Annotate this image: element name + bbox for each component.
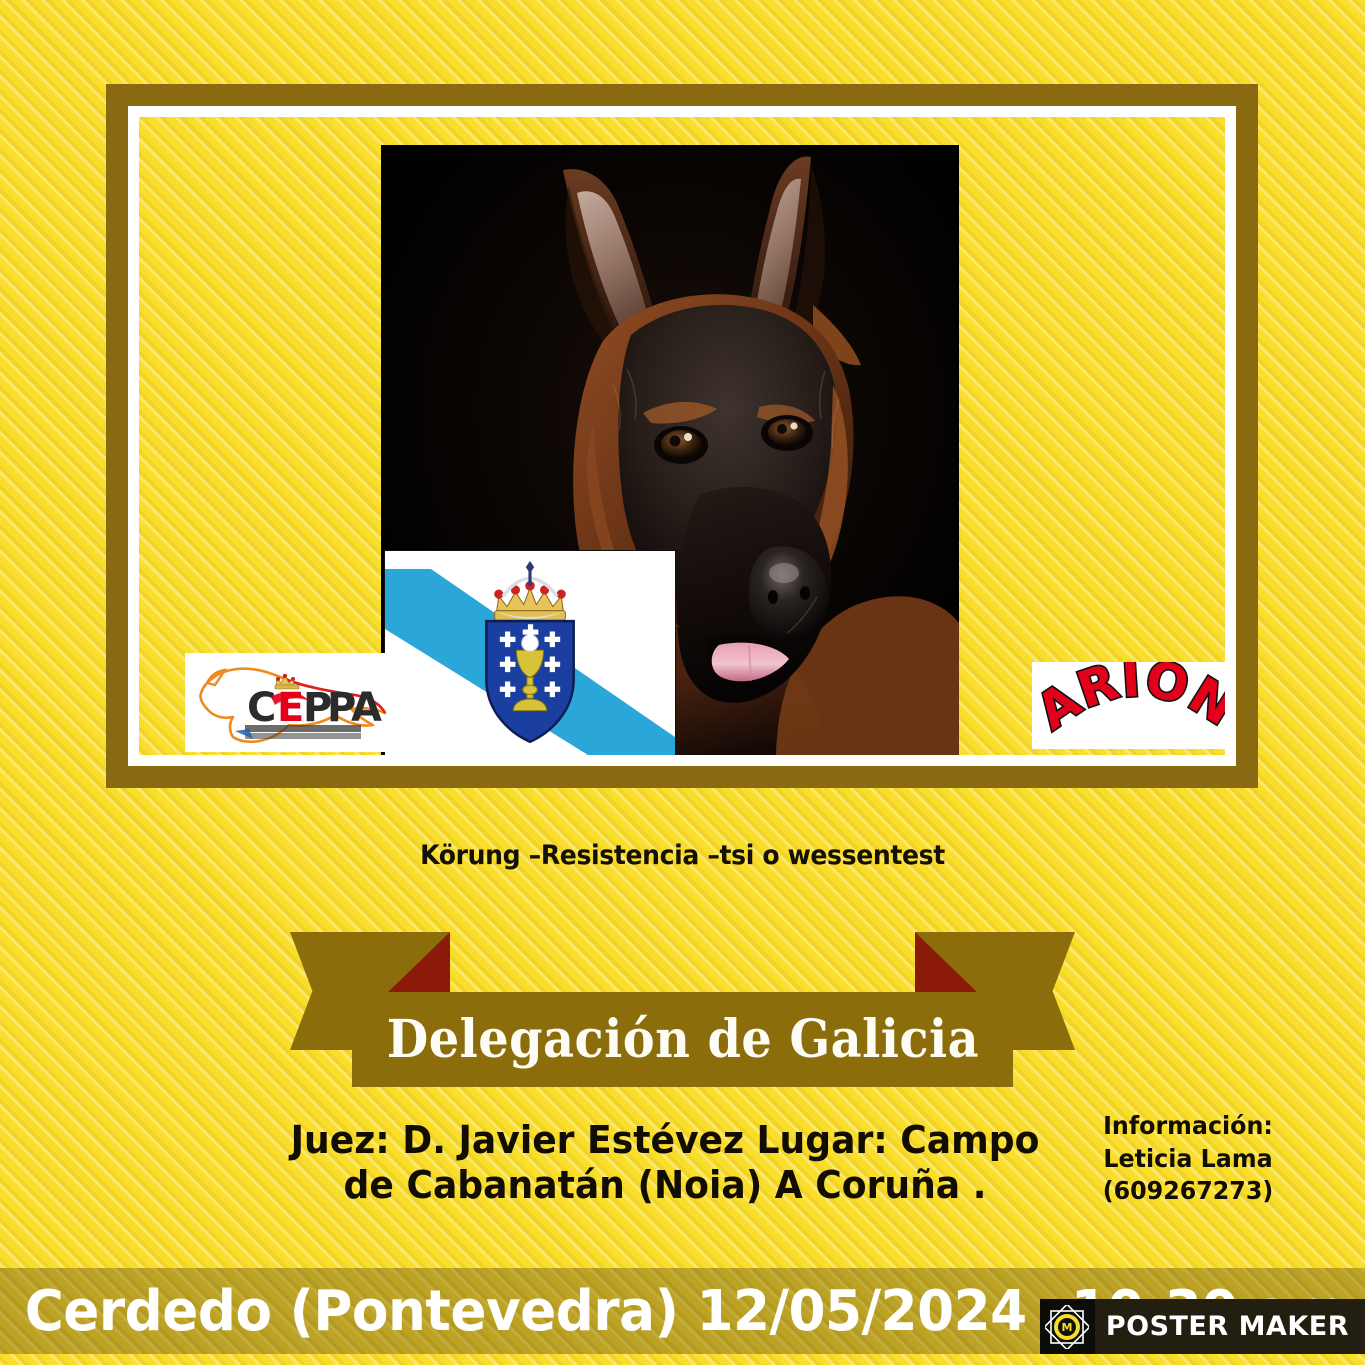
judge-venue-line-2: de Cabanatán (Noia) A Coruña . [271, 1163, 1060, 1208]
poster-maker-label: POSTER MAKER [1095, 1311, 1349, 1342]
poster-maker-watermark[interactable]: M POSTER MAKER [1040, 1299, 1365, 1354]
bottom-bar: Cerdedo (Pontevedra) 12/05/2024 –10:30 a… [0, 1268, 1365, 1354]
arion-logo: ARION ® [1032, 662, 1225, 749]
event-details: Juez: D. Javier Estévez Lugar: Campo de … [0, 1104, 1365, 1254]
event-subtitle: Körung –Resistencia –tsi o wessentest [48, 840, 1317, 871]
svg-text:A: A [351, 685, 383, 731]
banner-title: Delegación de Galicia [386, 1009, 978, 1070]
judge-and-venue: Juez: D. Javier Estévez Lugar: Campo de … [271, 1118, 1060, 1208]
contact-label: Información: [1079, 1110, 1298, 1143]
photo-frame: C E P P A [106, 84, 1258, 788]
ribbon-center-panel: Delegación de Galicia [352, 992, 1013, 1087]
svg-text:C: C [247, 685, 277, 731]
ribbon-banner: Delegación de Galicia [290, 932, 1075, 1087]
contact-phone: (609267273) [1079, 1175, 1298, 1208]
judge-venue-line-1: Juez: D. Javier Estévez Lugar: Campo [271, 1118, 1060, 1163]
contact-info: Información: Leticia Lama (609267273) [1079, 1110, 1298, 1208]
photo-frame-content: C E P P A [139, 117, 1225, 755]
contact-name: Leticia Lama [1079, 1143, 1298, 1176]
photo-frame-white-inlay: C E P P A [128, 106, 1236, 766]
poster-maker-logo-icon: M [1040, 1299, 1095, 1354]
svg-text:E: E [277, 685, 305, 731]
svg-text:M: M [1062, 1321, 1073, 1334]
ceppa-logo: C E P P A [185, 653, 392, 752]
galicia-flag [385, 551, 675, 755]
